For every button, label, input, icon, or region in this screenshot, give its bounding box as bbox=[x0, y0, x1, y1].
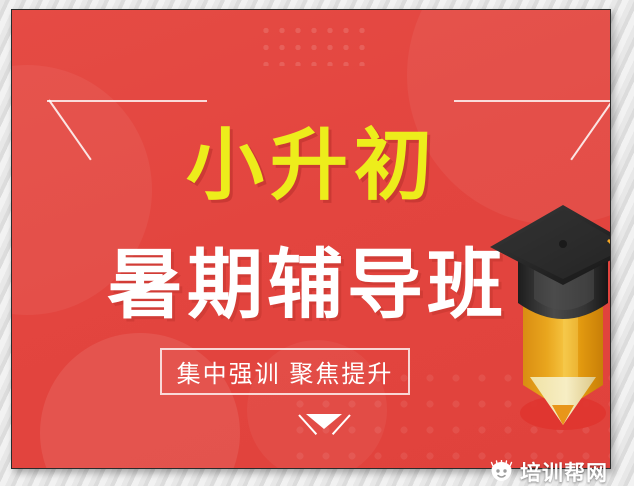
chevron-down-arrow-icon bbox=[297, 414, 351, 446]
dot-grid-pattern-top bbox=[256, 18, 374, 66]
subtitle-text: 集中强训 聚焦提升 bbox=[177, 354, 394, 389]
pencil-with-graduation-cap-icon bbox=[490, 195, 611, 440]
watermark-text: 培训帮网 bbox=[520, 457, 608, 486]
poster-frame: 小升初 暑期辅导班 集中强训 聚焦提升 bbox=[0, 0, 634, 486]
watermark: 培训帮网 bbox=[489, 457, 608, 486]
headline-primary: 小升初 bbox=[12, 126, 611, 204]
subtitle-box: 集中强训 聚焦提升 bbox=[160, 348, 410, 395]
promo-banner: 小升初 暑期辅导班 集中强训 聚焦提升 bbox=[11, 9, 611, 469]
sun-face-logo-icon bbox=[489, 460, 514, 485]
